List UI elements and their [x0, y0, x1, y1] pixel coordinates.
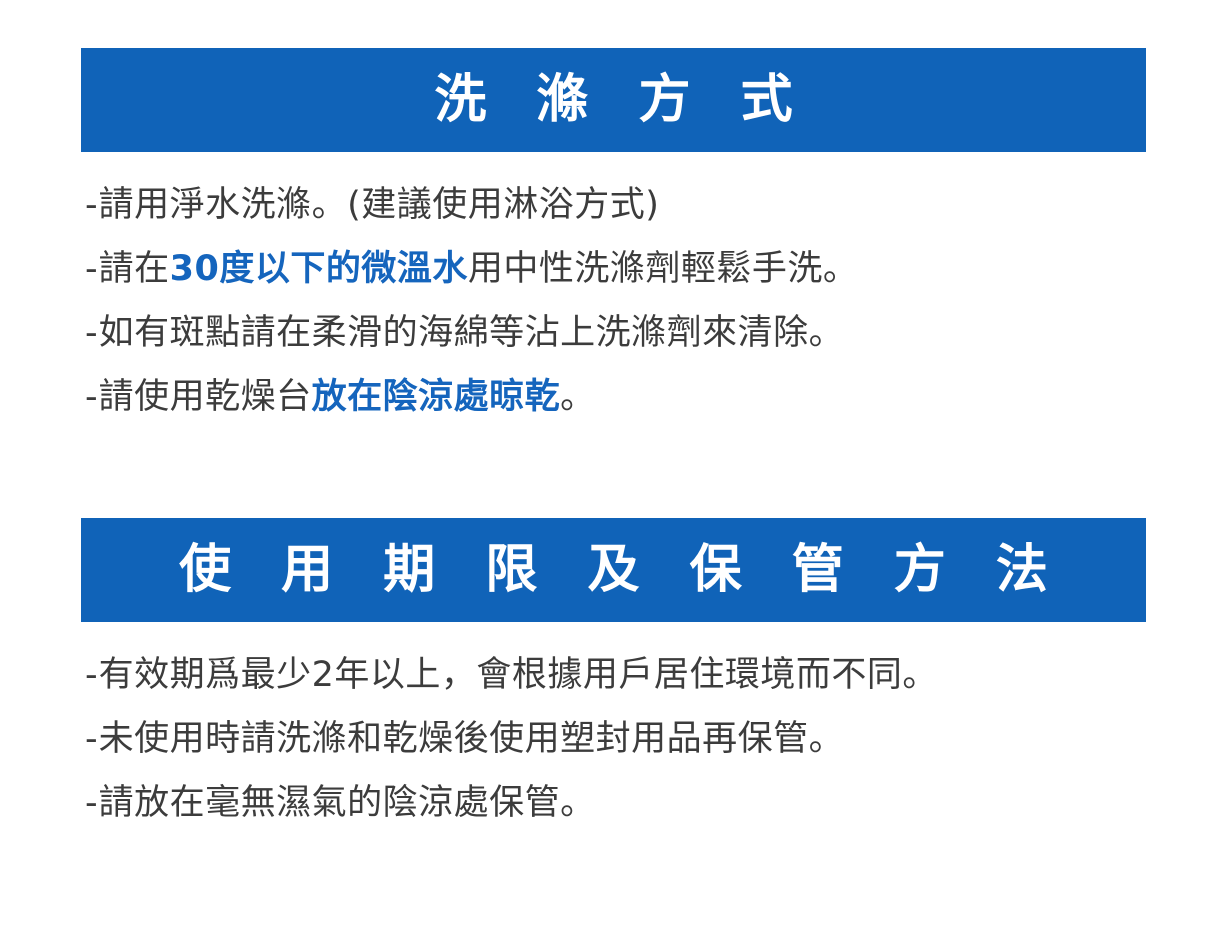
line-dash: - [85, 783, 98, 823]
line-text-segment: 請用淨水洗滌。(建議使用淋浴方式) [99, 185, 660, 225]
line-text-segment: 如有斑點請在柔滑的海綿等沾上洗滌劑來清除。 [99, 313, 845, 353]
line-dash: - [85, 313, 98, 353]
product-care-instructions-page: 洗 滌 方 式 -請用淨水洗滌。(建議使用淋浴方式) -請在30度以下的微溫水用… [0, 0, 1220, 936]
line-dash: - [85, 249, 98, 289]
line-highlight-segment: 30度以下的微溫水 [170, 249, 468, 289]
line-text-segment: 有效期爲最少2年以上，會根據用戶居住環境而不同。 [99, 655, 938, 695]
line-dash: - [85, 185, 98, 225]
line-dash: - [85, 719, 98, 759]
line-dash: - [85, 377, 98, 417]
section-title-usage-period-and-storage: 使 用 期 限 及 保 管 方 法 [163, 544, 1064, 596]
instruction-line: -請使用乾燥台放在陰涼處晾乾。 [85, 373, 1175, 437]
line-highlight-segment: 放在陰涼處晾乾 [312, 377, 561, 417]
section-banner-washing-method: 洗 滌 方 式 [81, 48, 1146, 152]
section-body-washing-method: -請用淨水洗滌。(建議使用淋浴方式) -請在30度以下的微溫水用中性洗滌劑輕鬆手… [85, 181, 1175, 437]
instruction-line: -請用淨水洗滌。(建議使用淋浴方式) [85, 181, 1175, 245]
line-text-segment: 請使用乾燥台 [99, 377, 312, 417]
instruction-line: -如有斑點請在柔滑的海綿等沾上洗滌劑來清除。 [85, 309, 1175, 373]
instruction-line: -請在30度以下的微溫水用中性洗滌劑輕鬆手洗。 [85, 245, 1175, 309]
line-text-segment: 請放在毫無濕氣的陰涼處保管。 [99, 783, 596, 823]
line-text-segment: 。 [560, 377, 596, 417]
line-text-segment: 未使用時請洗滌和乾燥後使用塑封用品再保管。 [99, 719, 845, 759]
instruction-line: -未使用時請洗滌和乾燥後使用塑封用品再保管。 [85, 715, 1175, 779]
section-body-usage-period-and-storage: -有效期爲最少2年以上，會根據用戶居住環境而不同。 -未使用時請洗滌和乾燥後使用… [85, 651, 1175, 843]
line-dash: - [85, 655, 98, 695]
section-title-washing-method: 洗 滌 方 式 [418, 74, 808, 126]
instruction-line: -請放在毫無濕氣的陰涼處保管。 [85, 779, 1175, 843]
line-text-segment: 用中性洗滌劑輕鬆手洗。 [468, 249, 859, 289]
section-banner-usage-period-and-storage: 使 用 期 限 及 保 管 方 法 [81, 518, 1146, 622]
instruction-line: -有效期爲最少2年以上，會根據用戶居住環境而不同。 [85, 651, 1175, 715]
line-text-segment: 請在 [99, 249, 170, 289]
